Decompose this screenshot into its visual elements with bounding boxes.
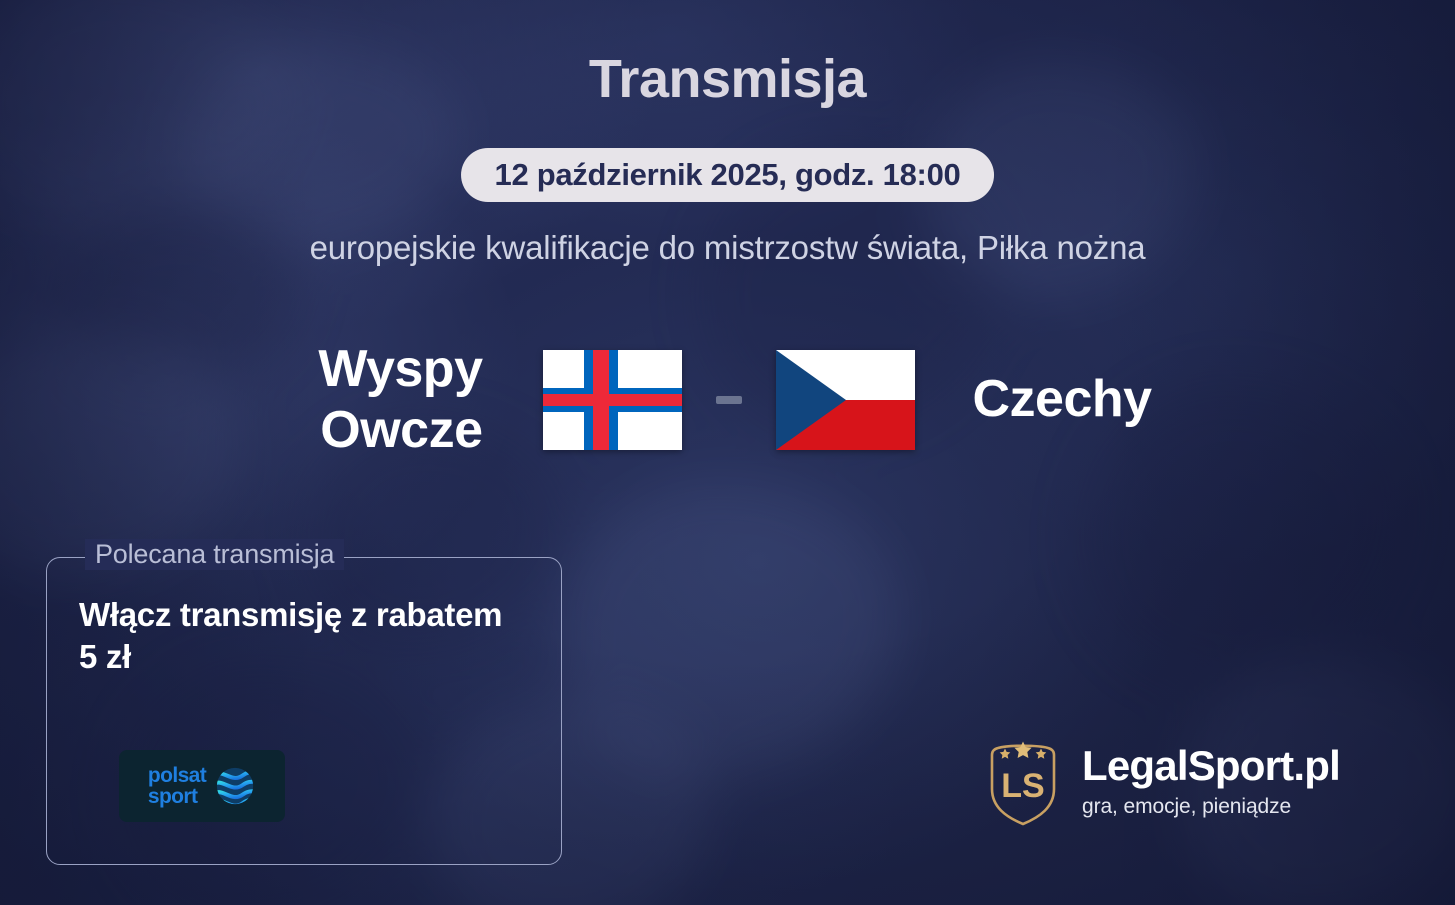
away-team: Czechy — [776, 350, 1273, 450]
polsat-sport-logo[interactable]: polsat sport — [119, 750, 285, 822]
home-team-name: Wyspy Owcze — [183, 339, 483, 462]
brand-tagline: gra, emocje, pieniądze — [1082, 795, 1340, 819]
page-title: Transmisja — [0, 52, 1455, 106]
competition-subtitle: europejskie kwalifikacje do mistrzostw ś… — [0, 229, 1455, 267]
czech-republic-flag-icon — [776, 350, 915, 450]
score-separator-dash — [716, 396, 742, 404]
away-team-name: Czechy — [973, 369, 1273, 430]
polsat-globe-icon — [214, 765, 256, 807]
legalsport-shield-icon: LS — [986, 735, 1060, 827]
faroe-islands-flag-icon — [543, 350, 682, 450]
sport-word: sport — [148, 786, 206, 807]
polsat-sport-wordmark: polsat sport — [148, 765, 206, 808]
polsat-word: polsat — [148, 765, 206, 786]
recommended-broadcast-legend: Polecana transmisja — [85, 539, 344, 570]
match-datetime-badge: 12 październik 2025, godz. 18:00 — [461, 148, 995, 202]
match-teams-row: Wyspy Owcze Czechy — [0, 320, 1455, 480]
recommended-broadcast-card[interactable]: Polecana transmisja Włącz transmisję z r… — [46, 557, 562, 865]
home-team-name-line1: Wyspy — [183, 339, 483, 400]
broadcast-promo-graphic: Transmisja 12 październik 2025, godz. 18… — [0, 0, 1455, 905]
brand-text-block: LegalSport.pl gra, emocje, pieniądze — [1082, 743, 1340, 818]
home-team-name-line2: Owcze — [183, 400, 483, 461]
brand-name: LegalSport.pl — [1082, 743, 1340, 788]
legalsport-brand[interactable]: LS LegalSport.pl gra, emocje, pieniądze — [986, 735, 1340, 827]
promo-headline: Włącz transmisję z rabatem 5 zł — [79, 594, 509, 678]
home-team: Wyspy Owcze — [183, 339, 682, 462]
shield-initials: LS — [1001, 767, 1044, 805]
